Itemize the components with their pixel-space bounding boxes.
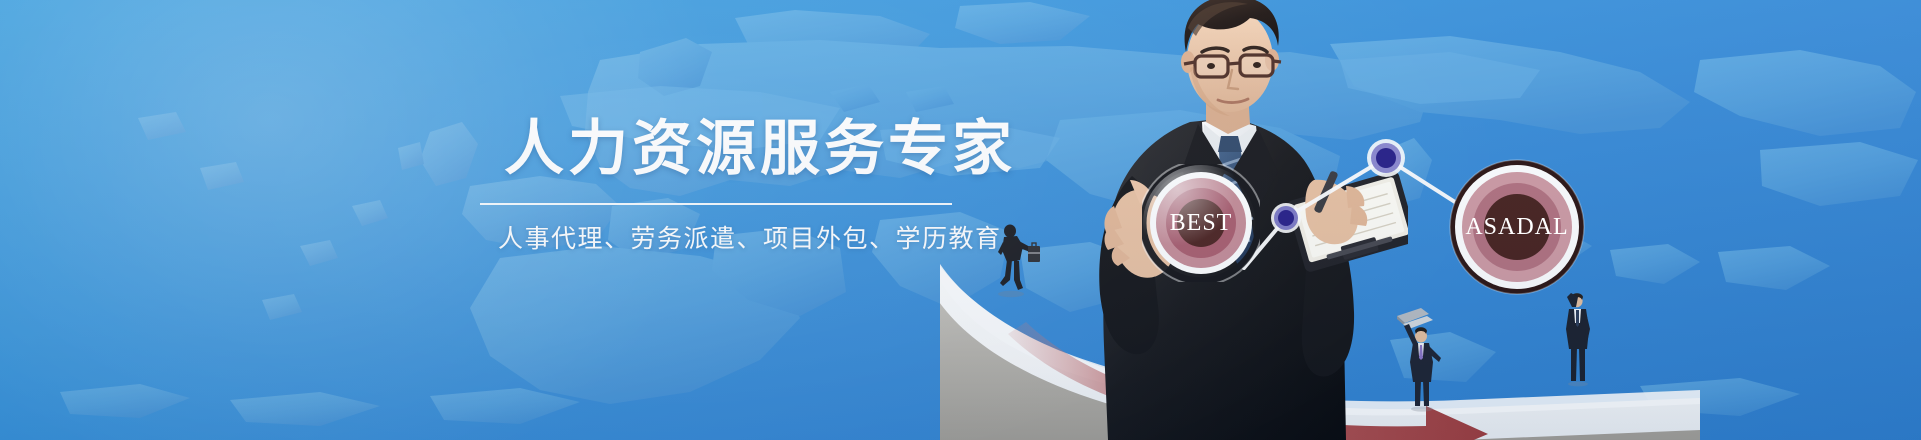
badge-best: BEST	[1142, 164, 1260, 282]
banner-subtitle: 人事代理、劳务派遣、项目外包、学历教育	[498, 219, 998, 255]
badge-best-label: BEST	[1170, 210, 1233, 237]
title-divider	[480, 203, 952, 205]
small-figure-with-briefcase	[990, 222, 1042, 300]
badge-asadal-label: ASADAL	[1465, 214, 1568, 241]
small-figure-looking-ahead	[1558, 285, 1598, 389]
page-title: 人力资源服务专家	[504, 118, 998, 181]
banner-copy: 人力资源服务专家 人事代理、劳务派遣、项目外包、学历教育	[478, 118, 998, 255]
badge-asadal: ASADAL	[1448, 158, 1586, 296]
small-figure-holding-laptop	[1395, 300, 1443, 412]
hero-banner: 人力资源服务专家 人事代理、劳务派遣、项目外包、学历教育	[0, 0, 1921, 440]
